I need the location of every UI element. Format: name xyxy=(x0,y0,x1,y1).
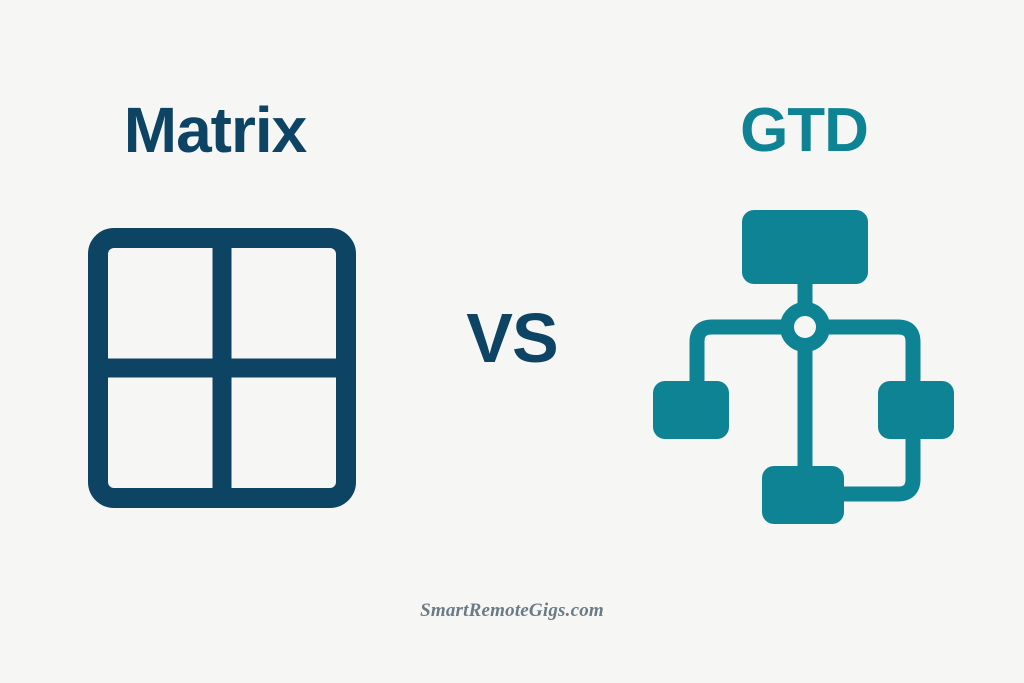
versus-label: VS xyxy=(430,303,594,373)
right-panel-title: GTD xyxy=(594,100,1014,162)
eisenhower-matrix-grid-icon xyxy=(88,228,356,508)
site-watermark: SmartRemoteGigs.com xyxy=(0,600,1024,622)
gtd-workflow-node-diagram-icon xyxy=(636,196,972,536)
left-panel-title: Matrix xyxy=(0,98,430,162)
comparison-graphic-canvas: Matrix VS GTD xyxy=(0,0,1024,683)
